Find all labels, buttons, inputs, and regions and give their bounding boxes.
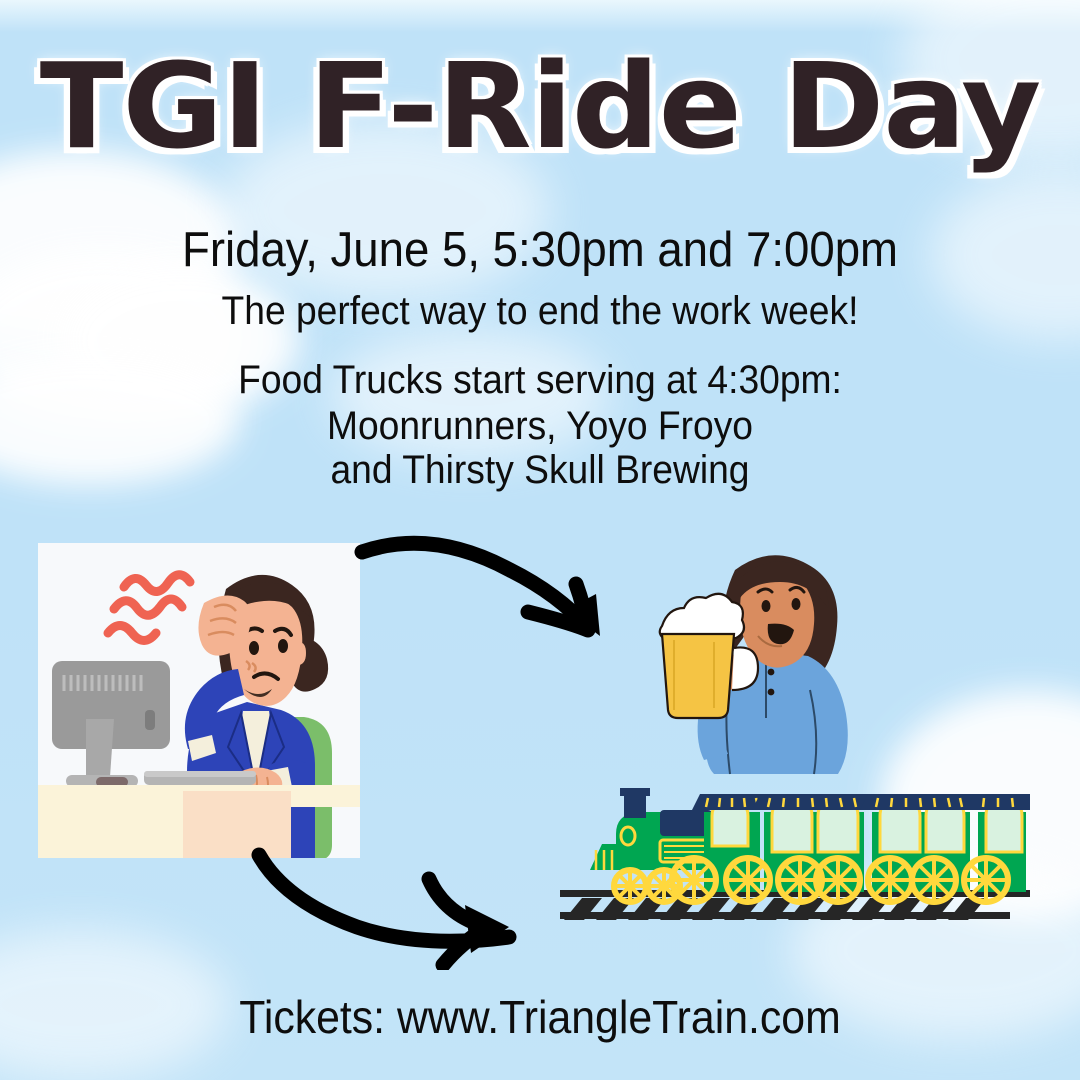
curved-arrow-to-beer-icon: [350, 528, 680, 658]
eye-right: [792, 598, 801, 610]
food-trucks-line-1: Moonrunners, Yoyo Froyo: [38, 404, 1042, 449]
stressed-office-worker-illustration: [38, 543, 360, 858]
passenger-car-4: [966, 794, 1030, 892]
event-tagline: The perfect way to end the work week!: [38, 289, 1042, 334]
shirt-button-top: [768, 669, 775, 676]
food-trucks-line-2: and Thirsty Skull Brewing: [38, 448, 1042, 493]
food-trucks-heading: Food Trucks start serving at 4:30pm:: [38, 358, 1042, 403]
event-datetime: Friday, June 5, 5:30pm and 7:00pm: [38, 222, 1042, 278]
page-title: TGI F-Ride Day: [0, 46, 1080, 166]
eye-right: [278, 639, 288, 653]
poster-canvas: TGI F-Ride Day Friday, June 5, 5:30pm an…: [0, 0, 1080, 1080]
curved-arrow-to-train-icon: [243, 845, 573, 970]
desk-front: [38, 801, 186, 858]
eye-left: [249, 641, 259, 655]
tickets-url: Tickets: www.TriangleTrain.com: [38, 990, 1042, 1044]
monitor-stand: [86, 719, 114, 777]
shirt-button-bottom: [768, 689, 775, 696]
green-steam-train-illustration: [560, 778, 1030, 943]
eye-left: [762, 600, 771, 612]
rail-lower: [560, 912, 1010, 919]
